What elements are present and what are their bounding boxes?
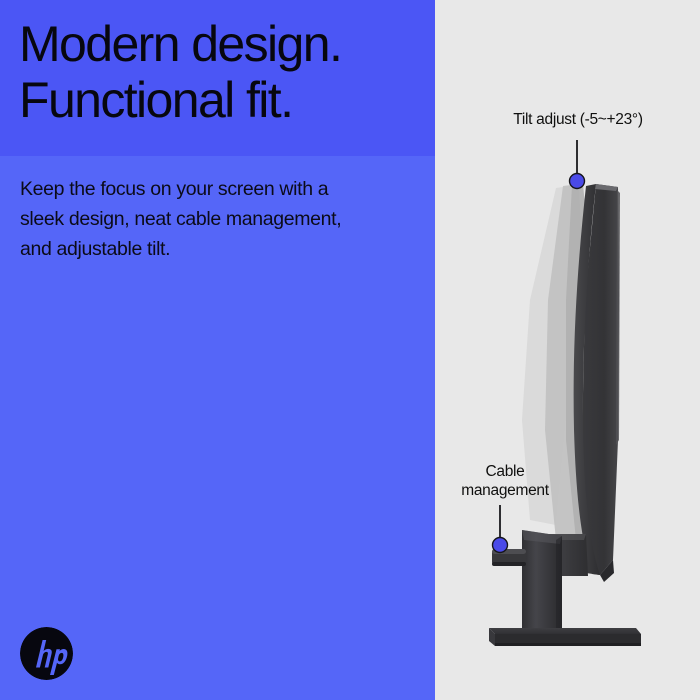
stand-base bbox=[489, 628, 641, 646]
stand-neck bbox=[522, 530, 562, 634]
marketing-banner: Modern design. Functional fit. Keep the … bbox=[0, 0, 700, 700]
callout-cable-management[interactable] bbox=[493, 505, 508, 553]
cable-management-dot[interactable] bbox=[493, 538, 508, 553]
monitor-illustration bbox=[0, 0, 700, 700]
callout-tilt-adjust[interactable] bbox=[570, 140, 585, 189]
callout-label-cable-management: Cable management bbox=[435, 462, 575, 500]
callout-label-tilt-adjust: Tilt adjust (-5~+23°) bbox=[483, 110, 673, 129]
tilt-adjust-dot[interactable] bbox=[570, 174, 585, 189]
